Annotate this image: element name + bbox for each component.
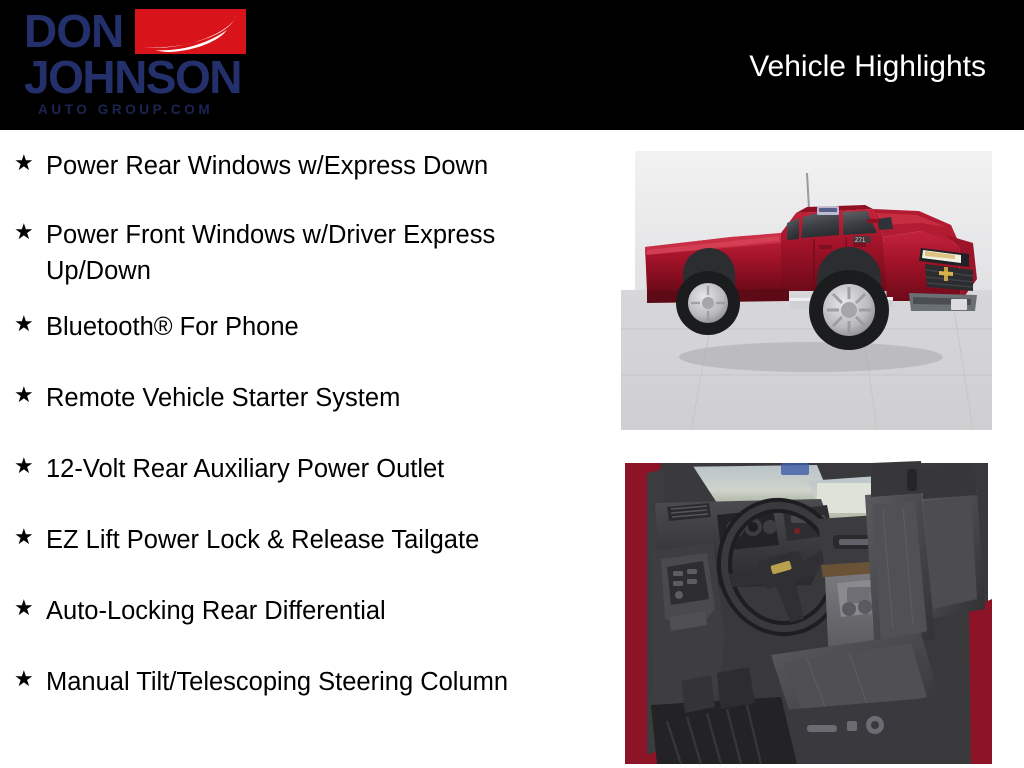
- feature-label: Power Front Windows w/Driver Express Up/…: [46, 217, 604, 289]
- feature-label: Bluetooth® For Phone: [46, 309, 604, 345]
- feature-item: ★Power Front Windows w/Driver Express Up…: [14, 217, 604, 289]
- logo-line-johnson: JOHNSON: [24, 54, 241, 100]
- feature-item: ★Power Rear Windows w/Express Down: [14, 148, 604, 184]
- logo-line-don: DON: [24, 8, 123, 54]
- feature-item: ★Auto-Locking Rear Differential: [14, 593, 604, 629]
- star-bullet-icon: ★: [14, 148, 36, 178]
- feature-item: ★Bluetooth® For Phone: [14, 309, 604, 345]
- feature-label: EZ Lift Power Lock & Release Tailgate: [46, 522, 604, 558]
- logo-tagline: AUTO GROUP.COM: [38, 103, 213, 117]
- vehicle-highlights-list: ★Power Rear Windows w/Express Down★Power…: [0, 130, 610, 768]
- feature-label: 12-Volt Rear Auxiliary Power Outlet: [46, 451, 604, 487]
- feature-item: ★EZ Lift Power Lock & Release Tailgate: [14, 522, 604, 558]
- page-title: Vehicle Highlights: [749, 50, 986, 84]
- header-bar: DON JOHNSON AUTO GROUP.COM Vehicle Highl…: [0, 0, 1024, 130]
- feature-label: Power Rear Windows w/Express Down: [46, 148, 604, 184]
- feature-label: Auto-Locking Rear Differential: [46, 593, 604, 629]
- dealer-logo[interactable]: DON JOHNSON AUTO GROUP.COM: [24, 6, 264, 126]
- vehicle-interior-photo[interactable]: [621, 459, 992, 768]
- star-bullet-icon: ★: [14, 380, 36, 410]
- star-bullet-icon: ★: [14, 522, 36, 552]
- star-bullet-icon: ★: [14, 217, 36, 247]
- feature-item: ★12-Volt Rear Auxiliary Power Outlet: [14, 451, 604, 487]
- feature-item: ★Manual Tilt/Telescoping Steering Column: [14, 664, 604, 700]
- star-bullet-icon: ★: [14, 451, 36, 481]
- swoosh-icon: [135, 9, 246, 54]
- feature-label: Remote Vehicle Starter System: [46, 380, 604, 416]
- logo-accent-block: [135, 9, 246, 54]
- feature-item: ★Remote Vehicle Starter System: [14, 380, 604, 416]
- svg-text:Z71: Z71: [855, 238, 866, 244]
- feature-label: Manual Tilt/Telescoping Steering Column: [46, 664, 604, 700]
- star-bullet-icon: ★: [14, 309, 36, 339]
- star-bullet-icon: ★: [14, 664, 36, 694]
- star-bullet-icon: ★: [14, 593, 36, 623]
- vehicle-exterior-photo[interactable]: Z71: [621, 151, 992, 430]
